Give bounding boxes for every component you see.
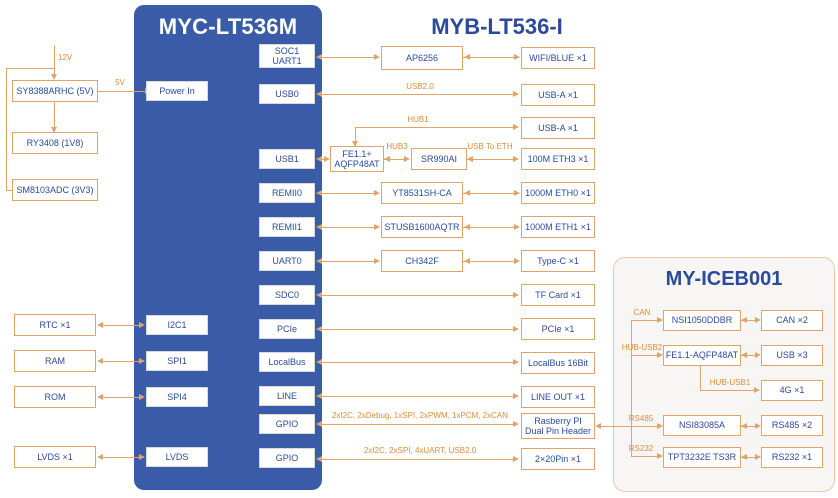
som-port-uart0: UART0 bbox=[259, 251, 315, 271]
wire-gpio-bottom bbox=[322, 459, 514, 460]
peripheral-lvds: LVDS ×1 bbox=[14, 446, 96, 468]
connector-2x20pin: 2×20Pin ×1 bbox=[521, 448, 595, 470]
wire-localbus-arrow-l bbox=[316, 359, 322, 365]
som-port-power-in: Power In bbox=[146, 81, 208, 101]
wire-sdc0-tfcard bbox=[322, 295, 514, 296]
bus-label-usb-to-eth: USB To ETH bbox=[459, 142, 521, 151]
wire-soc1-arrow-l bbox=[316, 54, 322, 60]
wire-remii0-arrow-r bbox=[374, 190, 380, 196]
chip-stusb1600aqtr: STUSB1600AQTR bbox=[381, 216, 463, 238]
bus-label-usb20: USB2.0 bbox=[390, 82, 450, 91]
wire-localbus bbox=[322, 362, 514, 363]
iceb-connector-rs232: RS232 ×1 bbox=[761, 447, 823, 468]
wire-5v-to-1v8 bbox=[54, 102, 55, 128]
connector-wifi-blue: WIFI/BLUE ×1 bbox=[521, 47, 595, 69]
wire-line-arrow-l bbox=[316, 393, 322, 399]
peripheral-ram: RAM bbox=[14, 350, 96, 372]
wire-wifi-arrow-r bbox=[514, 54, 520, 60]
wire-rom-spi4 bbox=[103, 397, 139, 398]
wire-localbus-arrow-r bbox=[513, 359, 519, 365]
wire-line-arrow-r bbox=[513, 393, 519, 399]
wire-iceb-rs232 bbox=[631, 456, 659, 457]
wire-pcie-arrow-l bbox=[316, 326, 322, 332]
wire-eth0-arrow-r bbox=[514, 190, 520, 196]
connector-1000m-eth1: 1000M ETH1 ×1 bbox=[521, 216, 595, 238]
wire-usb-conn-arrow-r bbox=[755, 352, 761, 358]
peripheral-rom: ROM bbox=[14, 386, 96, 408]
wire-uart0-arrow-r bbox=[374, 258, 380, 264]
wire-stusb-eth1 bbox=[463, 227, 515, 228]
wire-hub1-horizontal bbox=[355, 127, 514, 128]
wire-lvds-arrow-r bbox=[139, 454, 145, 460]
bus-label-hub1: HUB1 bbox=[398, 115, 438, 124]
iceb-chip-nsi83085a: NSI83085A bbox=[663, 415, 741, 436]
connector-100m-eth3: 100M ETH3 ×1 bbox=[521, 148, 595, 170]
chip-ch342f: CH342F bbox=[381, 250, 463, 272]
block-diagram-canvas: MYC-LT536M MYB-LT536-I 12V SY8388ARHC (5… bbox=[0, 0, 838, 498]
wire-yt8531-eth0 bbox=[463, 193, 515, 194]
wire-iceb-rs485 bbox=[631, 426, 659, 427]
wire-ram-arrow-l bbox=[97, 358, 103, 364]
wire-ram-arrow-r bbox=[139, 358, 145, 364]
connector-1000m-eth0: 1000M ETH0 ×1 bbox=[521, 182, 595, 204]
iceb-connector-4g: 4G ×1 bbox=[761, 380, 823, 401]
wire-hubusb1-vertical bbox=[700, 366, 701, 390]
wire-pcie-arrow-r bbox=[513, 326, 519, 332]
iceb-chip-nsi1050ddbr: NSI1050DDBR bbox=[663, 310, 741, 331]
bus-label-gpio-bottom: 2xI2C, 2xSPI, 4xUART, USB2.0 bbox=[350, 446, 490, 455]
iceb-chip-tpt3232e: TPT3232E TS3R bbox=[663, 447, 741, 468]
power-5v-label: 5V bbox=[110, 78, 130, 87]
som-port-remii0: REMII0 bbox=[259, 183, 315, 203]
wire-iceb-hubusb2 bbox=[631, 355, 659, 356]
wire-hub3-arrow-l bbox=[384, 156, 390, 162]
wire-can-conn-arrow-l bbox=[741, 317, 747, 323]
som-port-line: LINE bbox=[259, 386, 315, 406]
connector-raspberry-pi-header: Rasberry PI Dual Pin Header bbox=[521, 413, 595, 439]
wire-sdc0-arrow-l bbox=[316, 292, 322, 298]
wire-usb1-arrow-l bbox=[316, 156, 322, 162]
wire-typec-arrow-l bbox=[464, 258, 470, 264]
wire-rtc-arrow-r bbox=[139, 322, 145, 328]
wire-gpio-top-arrow-l bbox=[316, 421, 322, 427]
chip-ap6256: AP6256 bbox=[381, 46, 463, 70]
bus-label-hub-usb2: HUB-USB2 bbox=[618, 343, 666, 352]
bus-label-hub-usb1: HUB-USB1 bbox=[706, 378, 754, 387]
wire-remii0-arrow-l bbox=[316, 190, 322, 196]
wire-rs232-conn-arrow-l bbox=[741, 454, 747, 460]
wire-rpi-to-iceb bbox=[601, 426, 631, 427]
iceb-connector-can: CAN ×2 bbox=[761, 310, 823, 331]
connector-pcie: PCIe ×1 bbox=[521, 318, 595, 340]
connector-localbus-16bit: LocalBus 16Bit bbox=[521, 352, 595, 374]
chip-yt8531sh-ca: YT8531SH-CA bbox=[381, 182, 463, 204]
wire-rpi-to-iceb-arrow bbox=[595, 423, 601, 429]
som-port-i2c1: I2C1 bbox=[146, 315, 208, 335]
wire-remii1-arrow-l bbox=[316, 224, 322, 230]
wire-rs232-conn-arrow-r bbox=[755, 454, 761, 460]
iceb-title: MY-ICEB001 bbox=[613, 268, 835, 291]
connector-tf-card: TF Card ×1 bbox=[521, 284, 595, 306]
wire-hub1-arrow-r bbox=[513, 124, 519, 130]
wire-remii0-yt8531 bbox=[322, 193, 374, 194]
som-port-pcie: PCIe bbox=[259, 319, 315, 339]
wire-rom-arrow-l bbox=[97, 394, 103, 400]
regulator-ry3408: RY3408 (1V8) bbox=[12, 132, 98, 154]
wire-lvds bbox=[103, 457, 139, 458]
som-port-usb1: USB1 bbox=[259, 149, 315, 169]
wire-uart0-arrow-l bbox=[316, 258, 322, 264]
wire-eth1-arrow-r bbox=[514, 224, 520, 230]
wire-usb0-usba bbox=[322, 94, 514, 95]
som-port-lvds: LVDS bbox=[146, 447, 208, 467]
som-port-gpio-bottom: GPIO bbox=[259, 448, 315, 468]
wire-hubusb1-arrow bbox=[754, 387, 760, 393]
peripheral-rtc: RTC ×1 bbox=[14, 314, 96, 336]
bus-label-can: CAN bbox=[627, 308, 657, 317]
wire-soc1-ap6256 bbox=[322, 57, 374, 58]
wire-sr990ai-eth3 bbox=[467, 159, 515, 160]
chip-sr990ai: SR990AI bbox=[411, 148, 467, 170]
wire-eth1-arrow-l bbox=[464, 224, 470, 230]
wire-hub3-arrow-r bbox=[404, 156, 410, 162]
som-port-remii1: REMII1 bbox=[259, 217, 315, 237]
carrier-board-title: MYB-LT536-I bbox=[382, 14, 612, 40]
wire-lvds-arrow-l bbox=[97, 454, 103, 460]
wire-ch342f-typec bbox=[463, 261, 515, 262]
som-port-usb0: USB0 bbox=[259, 84, 315, 104]
wire-rs485-conn-arrow-l bbox=[741, 423, 747, 429]
wire-rtc-arrow-l bbox=[97, 322, 103, 328]
wire-remii1-arrow-r bbox=[374, 224, 380, 230]
wire-rs485-conn-arrow-r bbox=[755, 423, 761, 429]
som-port-spi1: SPI1 bbox=[146, 351, 208, 371]
wire-12v-rail-top bbox=[6, 68, 55, 69]
som-port-spi4: SPI4 bbox=[146, 387, 208, 407]
bus-label-rs232: RS232 bbox=[624, 444, 658, 453]
bus-label-gpio-top: 2xI2C, 2xDebug, 1xSPI, 2xPWM, 1xPCM, 2xC… bbox=[330, 411, 510, 420]
wire-gpio-top bbox=[322, 424, 514, 425]
wire-rtc-i2c1 bbox=[103, 325, 139, 326]
iceb-bus-vertical bbox=[631, 320, 632, 456]
wire-ap6256-arrow-l bbox=[464, 54, 470, 60]
wire-12v-rail-vertical bbox=[6, 68, 7, 190]
wire-eth3-arrow-r bbox=[513, 156, 519, 162]
power-12v-wire bbox=[54, 45, 55, 75]
connector-type-c: Type-C ×1 bbox=[521, 250, 595, 272]
connector-usb-a-2: USB-A ×1 bbox=[521, 117, 595, 139]
iceb-connector-usb: USB ×3 bbox=[761, 345, 823, 366]
wire-iceb-can bbox=[631, 320, 659, 321]
wire-rom-arrow-r bbox=[139, 394, 145, 400]
wire-soc1-arrow-r bbox=[374, 54, 380, 60]
bus-label-rs485: RS485 bbox=[624, 414, 658, 423]
iceb-connector-rs485: RS485 ×2 bbox=[761, 415, 823, 436]
regulator-sm8103adc: SM8103ADC (3V3) bbox=[12, 179, 98, 201]
iceb-chip-fe11-aqfp48at: FE1.1-AQFP48AT bbox=[663, 345, 741, 366]
wire-gpio-bottom-arrow-r bbox=[513, 456, 519, 462]
wire-line-out bbox=[322, 396, 514, 397]
wire-eth0-arrow-l bbox=[464, 190, 470, 196]
wire-ram-spi1 bbox=[103, 361, 139, 362]
wire-can-conn-arrow-r bbox=[755, 317, 761, 323]
wire-sdc0-arrow-r bbox=[513, 292, 519, 298]
wire-5v-to-powerin bbox=[98, 91, 146, 92]
som-port-localbus: LocalBus bbox=[259, 352, 315, 372]
som-port-sdc0: SDC0 bbox=[259, 285, 315, 305]
wire-uart0-ch342f bbox=[322, 261, 374, 262]
wire-eth3-arrow-l bbox=[467, 156, 473, 162]
som-title: MYC-LT536M bbox=[134, 14, 322, 40]
regulator-sy8388arhc: SY8388ARHC (5V) bbox=[12, 80, 98, 102]
connector-usb-a-1: USB-A ×1 bbox=[521, 84, 595, 106]
wire-typec-arrow-r bbox=[514, 258, 520, 264]
wire-ap6256-wifi bbox=[463, 57, 515, 58]
bus-label-hub3: HUB3 bbox=[384, 142, 410, 151]
wire-remii1-stusb bbox=[322, 227, 374, 228]
som-port-gpio-top: GPIO bbox=[259, 414, 315, 434]
wire-usb0-arrow-l bbox=[316, 91, 322, 97]
wire-usb-conn-arrow-l bbox=[741, 352, 747, 358]
wire-hub1-arrow-d bbox=[352, 141, 358, 147]
som-port-soc1-uart1: SOC1 UART1 bbox=[259, 44, 315, 68]
power-12v-label: 12V bbox=[58, 53, 82, 62]
connector-line-out: LINE OUT ×1 bbox=[521, 386, 595, 408]
wire-hubusb1-horizontal bbox=[700, 390, 755, 391]
wire-usb1-arrow-r bbox=[324, 156, 330, 162]
wire-usb0-arrow-r bbox=[513, 91, 519, 97]
wire-gpio-bottom-arrow-l bbox=[316, 456, 322, 462]
chip-fe11-aqfp48at: FE1.1+ AQFP48AT bbox=[330, 146, 384, 172]
wire-pcie bbox=[322, 329, 514, 330]
wire-gpio-top-arrow-r bbox=[513, 421, 519, 427]
